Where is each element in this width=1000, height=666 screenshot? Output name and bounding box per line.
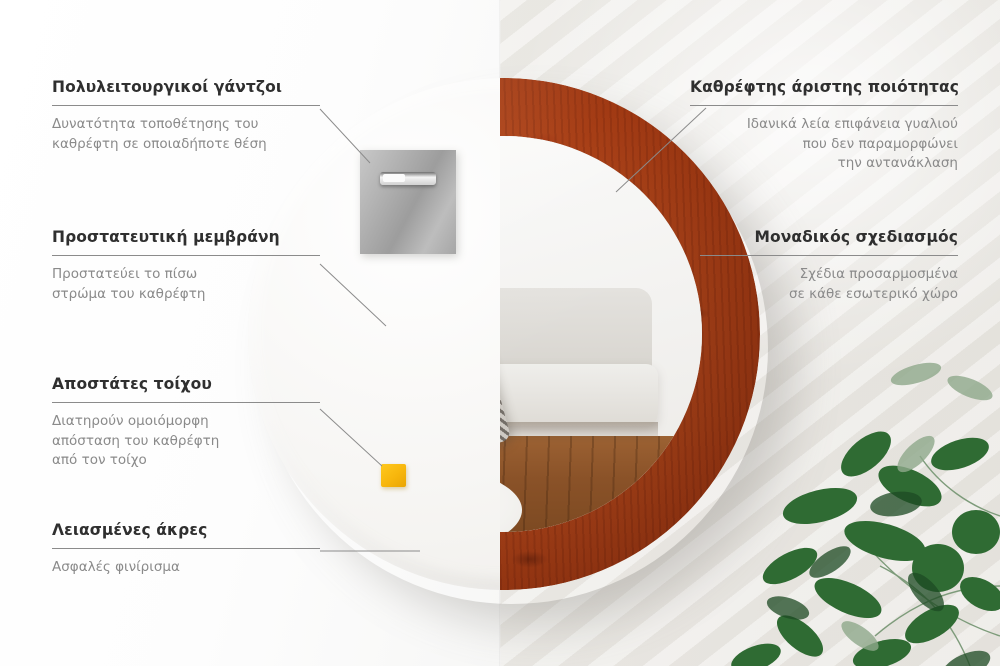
callout-glass: Καθρέφτης άριστης ποιότητας Ιδανικά λεία…: [690, 78, 958, 174]
callout-spacers-desc: Διατηρούν ομοιόμορφη απόσταση του καθρέφ…: [52, 412, 320, 471]
infographic-stage: Πολυλειτουργικοί γάντζοι Δυνατότητα τοπο…: [0, 0, 1000, 666]
callout-edges-rule: [52, 548, 320, 549]
hanging-bracket: [360, 150, 456, 254]
callout-design: Μοναδικός σχεδιασμός Σχέδια προσαρμοσμέν…: [700, 228, 958, 304]
callout-membrane-desc: Προστατεύει το πίσω στρώμα του καθρέφτη: [52, 265, 320, 304]
callout-hooks-desc: Δυνατότητα τοποθέτησης του καθρέφτη σε ο…: [52, 115, 320, 154]
callout-membrane: Προστατευτική μεμβράνη Προστατεύει το πί…: [52, 228, 320, 304]
callout-glass-rule: [690, 105, 958, 106]
foliage-decoration: [670, 336, 1000, 666]
callout-membrane-rule: [52, 255, 320, 256]
callout-design-rule: [700, 255, 958, 256]
callout-spacers-rule: [52, 402, 320, 403]
callout-spacers: Αποστάτες τοίχου Διατηρούν ομοιόμορφη απ…: [52, 375, 320, 471]
wall-spacer: [381, 464, 406, 487]
callout-hooks-rule: [52, 105, 320, 106]
callout-edges: Λειασμένες άκρες Ασφαλές φινίρισμα: [52, 521, 320, 578]
callout-hooks: Πολυλειτουργικοί γάντζοι Δυνατότητα τοπο…: [52, 78, 320, 154]
bracket-keyhole-slot: [380, 172, 436, 185]
callout-edges-title: Λειασμένες άκρες: [52, 521, 320, 539]
callout-design-desc: Σχέδια προσαρμοσμένα σε κάθε εσωτερικό χ…: [700, 265, 958, 304]
callout-glass-title: Καθρέφτης άριστης ποιότητας: [690, 78, 958, 96]
callout-glass-desc: Ιδανικά λεία επιφάνεια γυαλιού που δεν π…: [690, 115, 958, 174]
callout-hooks-title: Πολυλειτουργικοί γάντζοι: [52, 78, 320, 96]
callout-spacers-title: Αποστάτες τοίχου: [52, 375, 320, 393]
callout-design-title: Μοναδικός σχεδιασμός: [700, 228, 958, 246]
callout-membrane-title: Προστατευτική μεμβράνη: [52, 228, 320, 246]
callout-edges-desc: Ασφαλές φινίρισμα: [52, 558, 320, 578]
